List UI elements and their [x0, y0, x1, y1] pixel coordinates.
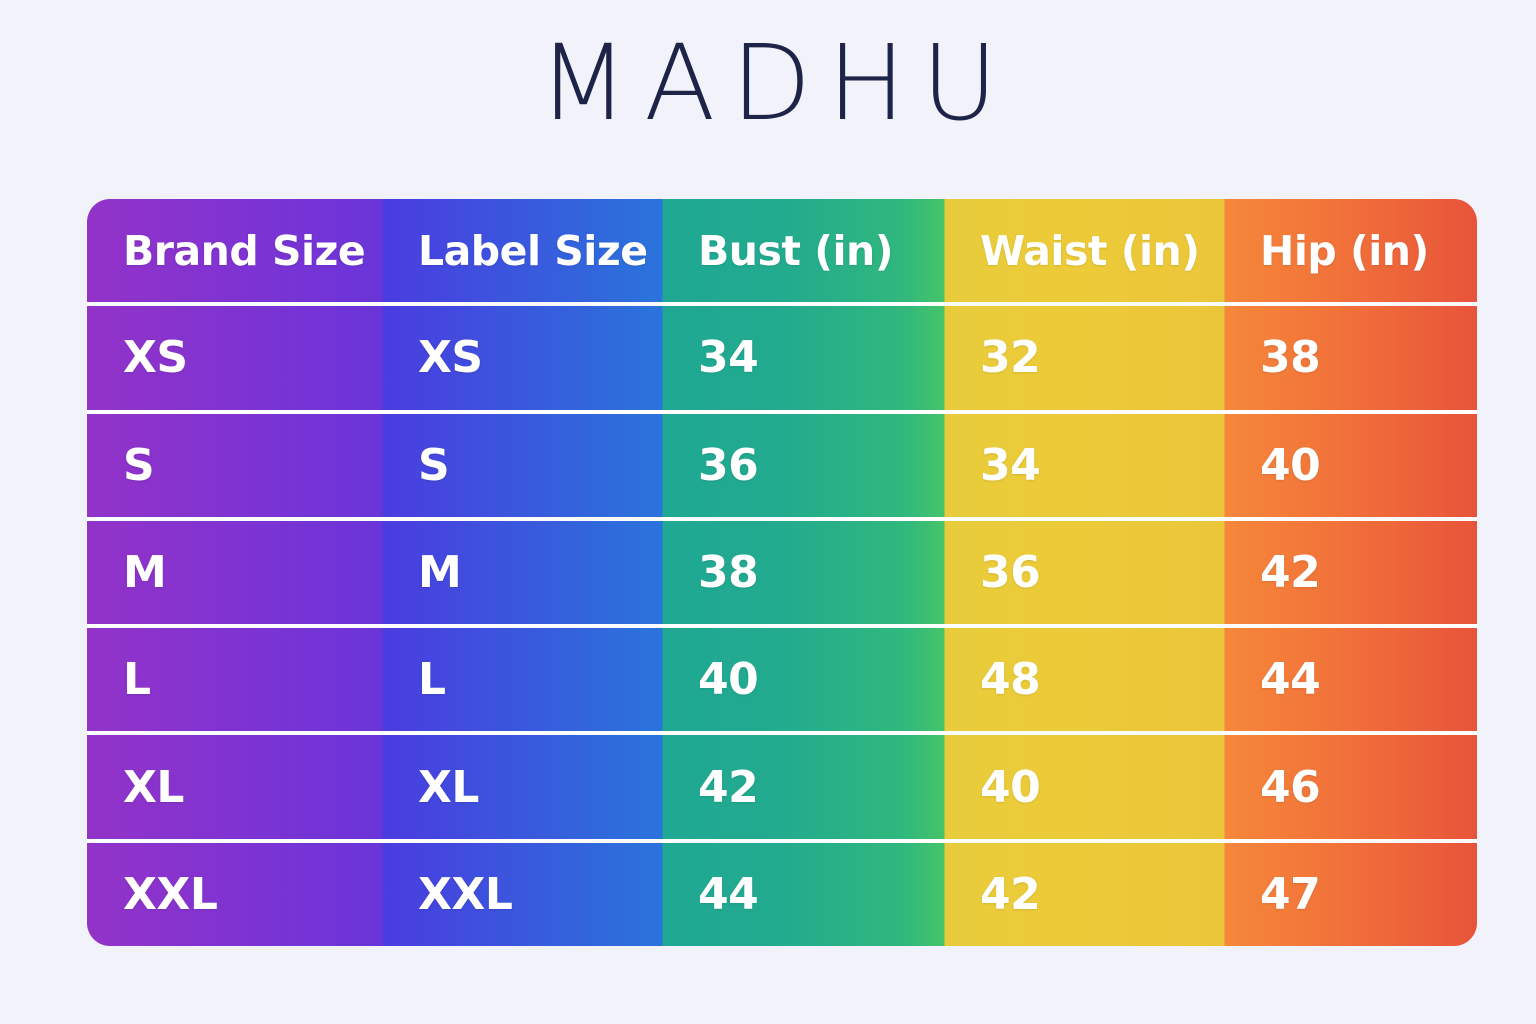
cell-value: 44 [1260, 654, 1320, 705]
column-header-label: Waist (in) [980, 227, 1199, 275]
cell-hip: 42 [1224, 521, 1477, 624]
cell-value: 40 [698, 654, 758, 705]
cell-bust: 44 [662, 843, 944, 946]
cell-brand-size: XXL [87, 843, 382, 946]
table-row: XXL XXL 44 42 47 [87, 843, 1477, 946]
cell-bust: 36 [662, 414, 944, 517]
cell-value: 40 [980, 762, 1040, 813]
cell-value: XXL [123, 869, 217, 920]
cell-value: 40 [1260, 440, 1320, 491]
cell-label-size: XL [382, 735, 662, 838]
cell-waist: 40 [944, 735, 1224, 838]
column-header-label: Brand Size [123, 227, 365, 275]
cell-brand-size: XS [87, 306, 382, 409]
cell-hip: 46 [1224, 735, 1477, 838]
cell-value: 44 [698, 869, 758, 920]
size-chart-table: Brand Size Label Size Bust (in) Waist (i… [87, 199, 1477, 946]
column-header-label-size: Label Size [382, 199, 662, 302]
table-row: L L 40 48 44 [87, 628, 1477, 731]
cell-label-size: M [382, 521, 662, 624]
column-header-bust: Bust (in) [662, 199, 944, 302]
cell-value: XS [418, 332, 483, 383]
column-header-brand-size: Brand Size [87, 199, 382, 302]
cell-value: L [418, 654, 446, 705]
cell-value: 42 [980, 869, 1040, 920]
cell-waist: 36 [944, 521, 1224, 624]
cell-brand-size: XL [87, 735, 382, 838]
cell-label-size: XXL [382, 843, 662, 946]
cell-waist: 48 [944, 628, 1224, 731]
cell-waist: 32 [944, 306, 1224, 409]
column-header-label: Hip (in) [1260, 227, 1429, 275]
cell-value: XXL [418, 869, 512, 920]
cell-value: 46 [1260, 762, 1320, 813]
cell-value: 34 [980, 440, 1040, 491]
cell-bust: 42 [662, 735, 944, 838]
cell-brand-size: M [87, 521, 382, 624]
cell-value: S [418, 440, 449, 491]
cell-bust: 40 [662, 628, 944, 731]
cell-value: 36 [980, 547, 1040, 598]
size-chart-page: MADHU Brand Size Label Size Bust (in) Wa… [0, 0, 1536, 1024]
table-header-row: Brand Size Label Size Bust (in) Waist (i… [87, 199, 1477, 302]
page-title: MADHU [0, 26, 1536, 140]
table-row: XL XL 42 40 46 [87, 735, 1477, 838]
cell-value: S [123, 440, 154, 491]
cell-value: L [123, 654, 151, 705]
cell-hip: 40 [1224, 414, 1477, 517]
cell-value: 38 [698, 547, 758, 598]
column-header-label: Label Size [418, 227, 648, 275]
cell-label-size: XS [382, 306, 662, 409]
cell-value: 34 [698, 332, 758, 383]
cell-value: 48 [980, 654, 1040, 705]
cell-value: M [418, 547, 461, 598]
cell-hip: 44 [1224, 628, 1477, 731]
cell-waist: 42 [944, 843, 1224, 946]
cell-hip: 47 [1224, 843, 1477, 946]
column-header-label: Bust (in) [698, 227, 893, 275]
cell-bust: 38 [662, 521, 944, 624]
cell-value: 42 [1260, 547, 1320, 598]
cell-brand-size: L [87, 628, 382, 731]
table-row: S S 36 34 40 [87, 414, 1477, 517]
cell-label-size: L [382, 628, 662, 731]
column-header-hip: Hip (in) [1224, 199, 1477, 302]
cell-waist: 34 [944, 414, 1224, 517]
table-row: XS XS 34 32 38 [87, 306, 1477, 409]
cell-brand-size: S [87, 414, 382, 517]
cell-value: 42 [698, 762, 758, 813]
cell-value: 32 [980, 332, 1040, 383]
cell-value: XS [123, 332, 188, 383]
cell-value: M [123, 547, 166, 598]
cell-label-size: S [382, 414, 662, 517]
cell-bust: 34 [662, 306, 944, 409]
column-header-waist: Waist (in) [944, 199, 1224, 302]
cell-value: XL [123, 762, 184, 813]
cell-value: XL [418, 762, 479, 813]
cell-hip: 38 [1224, 306, 1477, 409]
cell-value: 38 [1260, 332, 1320, 383]
table-row: M M 38 36 42 [87, 521, 1477, 624]
cell-value: 36 [698, 440, 758, 491]
cell-value: 47 [1260, 869, 1320, 920]
